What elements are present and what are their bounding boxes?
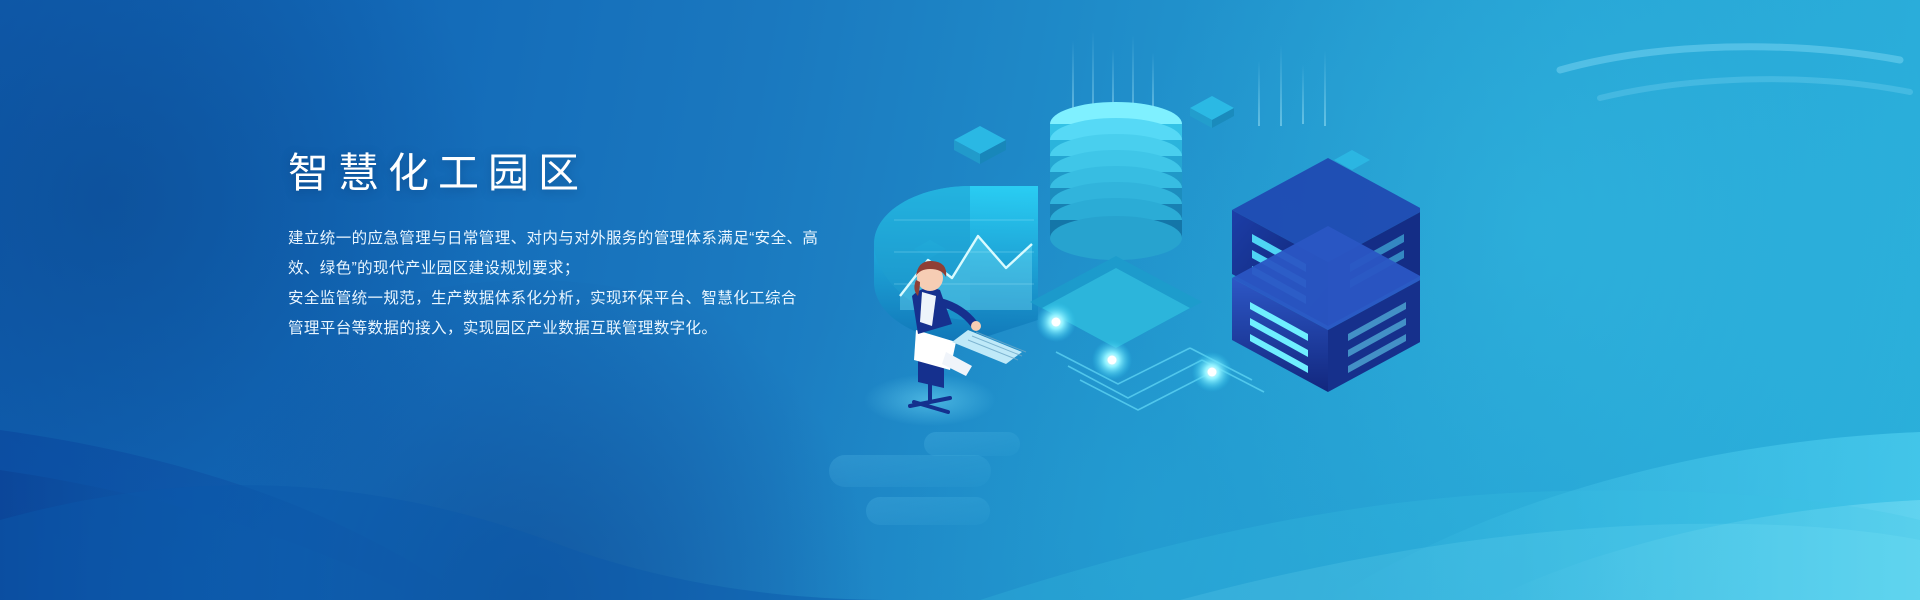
connection-path [1056,348,1264,410]
description-line-2: 效、绿色”的现代产业园区建设规划要求； [288,254,908,284]
hero-banner: 智慧化工园区 建立统一的应急管理与日常管理、对内与对外服务的管理体系满足“安全、… [0,0,1920,600]
description-line-3: 安全监管统一规范，生产数据体系化分析，实现环保平台、智慧化工综合 [288,284,908,314]
page-title: 智慧化工园区 [288,148,908,198]
illustration-smart-park [860,30,1420,450]
arc-top-right-1 [1560,47,1900,70]
description-line-1: 建立统一的应急管理与日常管理、对内与对外服务的管理体系满足“安全、高 [288,224,908,254]
chart-panel [874,186,1038,342]
description-line-4: 管理平台等数据的接入，实现园区产业数据互联管理数字化。 [288,314,908,344]
wave-bottom-left-3 [0,485,900,600]
arc-top-right-2 [1600,79,1910,98]
page-description: 建立统一的应急管理与日常管理、对内与对外服务的管理体系满足“安全、高 效、绿色”… [288,224,908,344]
hero-text-block: 智慧化工园区 建立统一的应急管理与日常管理、对内与对外服务的管理体系满足“安全、… [288,148,908,344]
